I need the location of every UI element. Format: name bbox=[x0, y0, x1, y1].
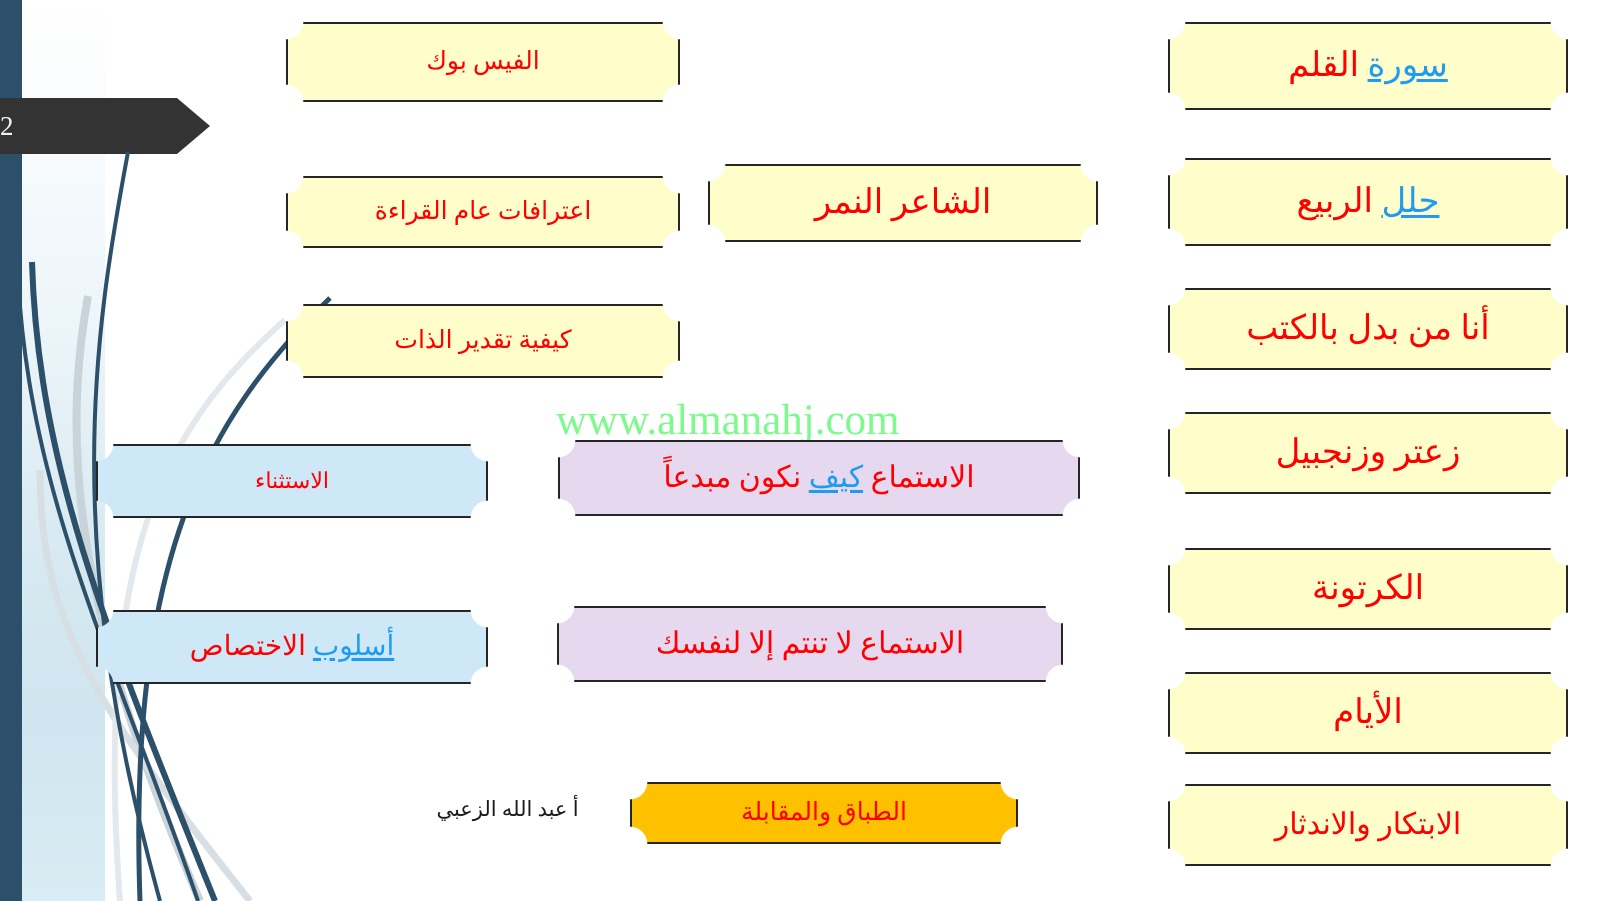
plain-text: القلم bbox=[1288, 47, 1359, 84]
card-text: الاستماع لا تنتم إلا لنفسك bbox=[640, 628, 980, 660]
plain-text: الربيع bbox=[1297, 183, 1373, 220]
card-text: الفيس بوك bbox=[410, 49, 555, 75]
topic-card-zaatar-wa-zanjabeel[interactable]: زعتر وزنجبيل bbox=[1168, 412, 1568, 494]
card-text: الأيام bbox=[1317, 695, 1419, 731]
slide-canvas: 2 www.almanahj.com أ عبد الله الزعبي سور… bbox=[0, 0, 1600, 901]
card-text: الشاعر النمر bbox=[799, 185, 1008, 221]
slide-number-badge: 2 bbox=[0, 98, 210, 154]
card-text: اعترافات عام القراءة bbox=[359, 199, 608, 225]
card-text: سورة القلم bbox=[1272, 48, 1464, 84]
topic-card-al-ibtikar-wal-indithar[interactable]: الابتكار والاندثار bbox=[1168, 784, 1568, 866]
card-text: الابتكار والاندثار bbox=[1259, 809, 1478, 841]
hyperlink-text[interactable]: كيف bbox=[809, 461, 863, 494]
site-watermark: www.almanahj.com bbox=[556, 396, 900, 445]
topic-card-al-istimaa-kayf-nakoon[interactable]: الاستماع كيف نكون مبدعاً bbox=[558, 440, 1080, 516]
hyperlink-text[interactable]: سورة bbox=[1368, 47, 1448, 84]
card-text: الطباق والمقابلة bbox=[725, 800, 923, 826]
slide-number-text: 2 bbox=[0, 113, 14, 140]
topic-card-ana-man-badal[interactable]: أنا من بدل بالكتب bbox=[1168, 288, 1568, 370]
text-after: نكون مبدعاً bbox=[663, 461, 801, 494]
topic-card-usloob-al-ikhtisas[interactable]: أسلوب الاختصاص bbox=[96, 610, 488, 684]
topic-card-al-tibaq-wal-muqabala[interactable]: الطباق والمقابلة bbox=[630, 782, 1018, 844]
hyperlink-text[interactable]: حلل bbox=[1381, 183, 1439, 220]
topic-card-al-kartoona[interactable]: الكرتونة bbox=[1168, 548, 1568, 630]
card-text: زعتر وزنجبيل bbox=[1260, 435, 1477, 471]
topic-card-surat-al-qalam[interactable]: سورة القلم bbox=[1168, 22, 1568, 110]
card-text: الكرتونة bbox=[1296, 571, 1440, 607]
topic-card-kayfiyat-taqdeer-al-dhat[interactable]: كيفية تقدير الذات bbox=[286, 304, 680, 378]
card-text: الاستثناء bbox=[239, 469, 345, 492]
topic-card-al-istithnaa[interactable]: الاستثناء bbox=[96, 444, 488, 518]
topic-card-al-facebook[interactable]: الفيس بوك bbox=[286, 22, 680, 102]
hyperlink-text[interactable]: أسلوب bbox=[313, 631, 394, 662]
topic-card-al-ayyam[interactable]: الأيام bbox=[1168, 672, 1568, 754]
card-text: الاستماع كيف نكون مبدعاً bbox=[647, 462, 990, 494]
text-before: الاستماع bbox=[871, 461, 975, 494]
card-text: حلل الربيع bbox=[1281, 184, 1456, 220]
author-credit: أ عبد الله الزعبي bbox=[405, 797, 610, 822]
card-text: أسلوب الاختصاص bbox=[174, 632, 411, 661]
topic-card-al-shaer-al-nimr[interactable]: الشاعر النمر bbox=[708, 164, 1098, 242]
card-text: أنا من بدل بالكتب bbox=[1230, 311, 1505, 347]
topic-card-hulal-al-rabee[interactable]: حلل الربيع bbox=[1168, 158, 1568, 246]
card-text: كيفية تقدير الذات bbox=[378, 328, 587, 354]
topic-card-al-istimaa-la-tantami[interactable]: الاستماع لا تنتم إلا لنفسك bbox=[557, 606, 1063, 682]
topic-card-itirafat-aam-al-qiraa[interactable]: اعترافات عام القراءة bbox=[286, 176, 680, 248]
plain-text: الاختصاص bbox=[190, 631, 306, 662]
